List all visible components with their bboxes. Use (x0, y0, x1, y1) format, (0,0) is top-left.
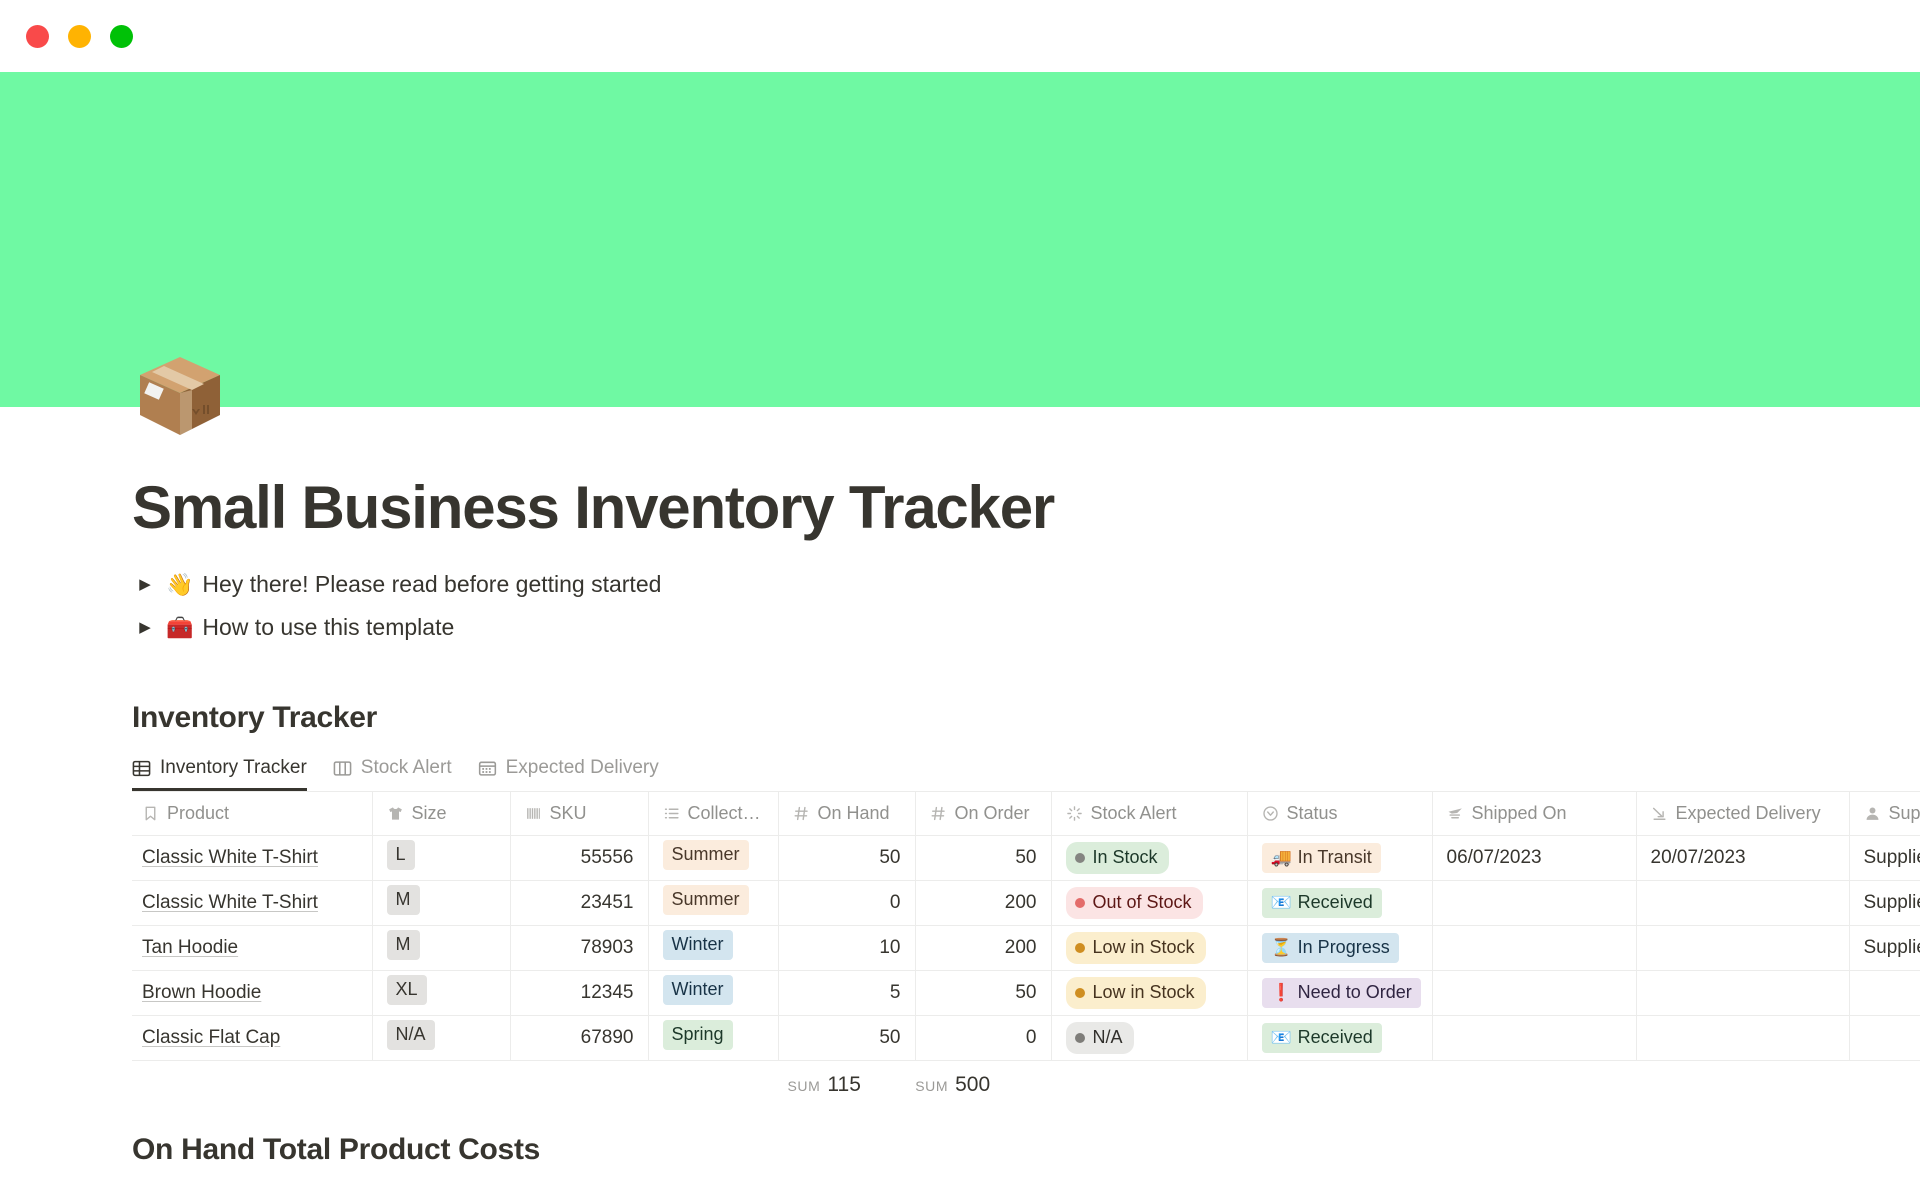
product-link[interactable]: Classic Flat Cap (142, 1027, 280, 1048)
stock-alert-tag: Low in Stock (1066, 932, 1206, 963)
status-dot-icon (1075, 1033, 1085, 1043)
column-header-supplier[interactable]: Supplier (1849, 792, 1920, 836)
column-header-on-hand[interactable]: On Hand (778, 792, 915, 836)
toggle-block-how-to-use[interactable]: ▶ 🧰 How to use this template (132, 606, 1920, 649)
status-tag: 📧Received (1262, 888, 1382, 917)
stock-alert-tag: Low in Stock (1066, 977, 1206, 1008)
status-tag: 🚚In Transit (1262, 843, 1381, 872)
board-icon (333, 759, 352, 778)
zoom-window-button[interactable] (110, 25, 133, 48)
size-tag: M (387, 885, 420, 914)
list-icon (663, 805, 680, 822)
cell-size[interactable]: L (372, 836, 510, 881)
traffic-lights (26, 25, 133, 48)
cell-sku[interactable]: 23451 (510, 881, 648, 926)
cell-product[interactable]: Brown Hoodie (132, 971, 372, 1016)
cell-collection[interactable]: Summer (648, 881, 778, 926)
package-box-icon[interactable] (132, 345, 228, 441)
cell-collection[interactable]: Winter (648, 926, 778, 971)
tab-inventory-tracker[interactable]: Inventory Tracker (132, 757, 307, 791)
product-link[interactable]: Classic White T-Shirt (142, 847, 318, 868)
arrow-down-icon (1651, 805, 1668, 822)
collection-tag: Winter (663, 930, 733, 959)
column-header-status[interactable]: Status (1247, 792, 1432, 836)
database-view-tabs: Inventory Tracker Stock Alert Expected D… (132, 753, 1920, 791)
page-content: Small Business Inventory Tracker ▶ 👋 Hey… (0, 407, 1920, 1167)
product-link[interactable]: Tan Hoodie (142, 937, 238, 958)
status-tag: ❗Need to Order (1262, 978, 1421, 1007)
column-label: Size (412, 803, 447, 824)
status-label: In Transit (1298, 846, 1372, 869)
table-row[interactable]: Classic White T-Shirt M 23451 Summer 0 2… (132, 881, 1920, 926)
sum-label: Sum (787, 1078, 820, 1094)
cell-supplier[interactable]: Supplier (1849, 881, 1920, 926)
sum-value: 115 (827, 1073, 860, 1096)
inventory-database-block: Inventory Tracker Inventory Tracker Stoc… (132, 701, 1920, 1167)
column-header-on-order[interactable]: On Order (915, 792, 1051, 836)
cell-stock-alert[interactable]: N/A (1051, 1016, 1247, 1061)
number-icon (930, 805, 947, 822)
window-title-bar (0, 0, 1920, 72)
page-title[interactable]: Small Business Inventory Tracker (132, 407, 1920, 541)
column-header-sku[interactable]: SKU (510, 792, 648, 836)
cell-shipped-on[interactable] (1432, 1016, 1636, 1061)
stock-alert-tag: N/A (1066, 1022, 1134, 1053)
cell-on-order[interactable]: 0 (915, 1016, 1051, 1061)
inbox-tray-icon: 📧 (1271, 894, 1292, 911)
table-row[interactable]: Tan Hoodie M 78903 Winter 10 200 Low in … (132, 926, 1920, 971)
cell-status[interactable]: ❗Need to Order (1247, 971, 1432, 1016)
column-label: On Order (955, 803, 1030, 824)
cell-collection[interactable]: Summer (648, 836, 778, 881)
collection-tag: Summer (663, 885, 749, 914)
calendar-icon (478, 759, 497, 778)
cell-product[interactable]: Classic White T-Shirt (132, 881, 372, 926)
column-label: Status (1287, 803, 1338, 824)
cell-stock-alert[interactable]: Low in Stock (1051, 926, 1247, 971)
toggle-label: Hey there! Please read before getting st… (202, 571, 661, 598)
chevron-right-icon[interactable]: ▶ (132, 620, 158, 635)
number-icon (793, 805, 810, 822)
cell-status[interactable]: 🚚In Transit (1247, 836, 1432, 881)
column-label: On Hand (818, 803, 890, 824)
tab-stock-alert[interactable]: Stock Alert (333, 757, 452, 791)
cell-size[interactable]: M (372, 926, 510, 971)
cell-size[interactable]: N/A (372, 1016, 510, 1061)
tab-expected-delivery[interactable]: Expected Delivery (478, 757, 659, 791)
inventory-table-scroll-area[interactable]: Product Size SKU Collecti… On Hand On Or… (132, 791, 1920, 1109)
cell-shipped-on[interactable] (1432, 971, 1636, 1016)
column-label: Stock Alert (1091, 803, 1177, 824)
table-row[interactable]: Brown Hoodie XL 12345 Winter 5 50 Low in… (132, 971, 1920, 1016)
cell-on-order[interactable]: 200 (915, 881, 1051, 926)
exclamation-mark-icon: ❗ (1271, 984, 1292, 1001)
table-body: Classic White T-Shirt L 55556 Summer 50 … (132, 836, 1920, 1061)
table-aggregation-row: Sum115 Sum500 (132, 1061, 1920, 1109)
table-header-row: Product Size SKU Collecti… On Hand On Or… (132, 792, 1920, 836)
stock-alert-label: Low in Stock (1093, 935, 1195, 960)
status-label: Need to Order (1298, 981, 1412, 1004)
status-label: In Progress (1298, 936, 1390, 959)
toggle-label: How to use this template (202, 614, 454, 641)
cell-collection[interactable]: Winter (648, 971, 778, 1016)
cell-product[interactable]: Classic Flat Cap (132, 1016, 372, 1061)
product-link[interactable]: Classic White T-Shirt (142, 892, 318, 913)
chevron-right-icon[interactable]: ▶ (132, 577, 158, 592)
status-dot-icon (1075, 988, 1085, 998)
status-label: Received (1298, 1026, 1373, 1049)
collection-tag: Winter (663, 975, 733, 1004)
collection-tag: Spring (663, 1020, 733, 1049)
tshirt-icon (387, 805, 404, 822)
barcode-icon (525, 805, 542, 822)
column-label: SKU (550, 803, 587, 824)
cell-sku[interactable]: 78903 (510, 926, 648, 971)
column-header-expected-delivery[interactable]: Expected Delivery (1636, 792, 1849, 836)
cell-on-hand[interactable]: 10 (778, 926, 915, 971)
status-label: Received (1298, 891, 1373, 914)
status-tag: ⏳In Progress (1262, 933, 1399, 962)
status-dot-icon (1075, 943, 1085, 953)
inbox-tray-icon: 📧 (1271, 1029, 1292, 1046)
page-cover-banner[interactable] (0, 72, 1920, 407)
truck-icon: 🚚 (1271, 849, 1292, 866)
select-icon (1262, 805, 1279, 822)
sum-label: Sum (915, 1078, 948, 1094)
column-header-product[interactable]: Product (132, 792, 372, 836)
column-header-collection[interactable]: Collecti… (648, 792, 778, 836)
column-label: Supplier (1889, 803, 1920, 824)
cell-expected-delivery[interactable] (1636, 971, 1849, 1016)
column-label: Expected Delivery (1676, 803, 1821, 824)
sum-on-hand[interactable]: Sum115 (745, 1073, 875, 1097)
status-dot-icon (1075, 853, 1085, 863)
hourglass-icon: ⏳ (1271, 939, 1292, 956)
minimize-window-button[interactable] (68, 25, 91, 48)
cell-on-hand[interactable]: 50 (778, 1016, 915, 1061)
cell-status[interactable]: ⏳In Progress (1247, 926, 1432, 971)
cell-on-hand[interactable]: 5 (778, 971, 915, 1016)
column-label: Collecti… (688, 803, 764, 824)
plane-icon (1447, 805, 1464, 822)
database-title[interactable]: Inventory Tracker (132, 701, 1920, 735)
stock-alert-label: Low in Stock (1093, 980, 1195, 1005)
cell-sku[interactable]: 67890 (510, 1016, 648, 1061)
bookmark-icon (142, 805, 159, 822)
cell-supplier[interactable]: Supplier (1849, 926, 1920, 971)
cell-shipped-on[interactable]: 06/07/2023 (1432, 836, 1636, 881)
next-section-heading[interactable]: On Hand Total Product Costs (132, 1133, 1920, 1167)
cell-sku[interactable]: 12345 (510, 971, 648, 1016)
cell-size[interactable]: XL (372, 971, 510, 1016)
cell-on-order[interactable]: 50 (915, 836, 1051, 881)
stock-alert-label: N/A (1093, 1025, 1123, 1050)
product-link[interactable]: Brown Hoodie (142, 982, 261, 1003)
tab-label: Inventory Tracker (160, 757, 307, 779)
sum-value: 500 (955, 1073, 990, 1096)
cell-stock-alert[interactable]: Low in Stock (1051, 971, 1247, 1016)
cell-stock-alert[interactable]: In Stock (1051, 836, 1247, 881)
toggle-block-list: ▶ 👋 Hey there! Please read before gettin… (132, 563, 1920, 649)
cell-supplier[interactable] (1849, 1016, 1920, 1061)
tab-label: Stock Alert (361, 757, 452, 779)
column-label: Shipped On (1472, 803, 1567, 824)
column-header-shipped-on[interactable]: Shipped On (1432, 792, 1636, 836)
column-label: Product (167, 803, 229, 824)
cell-size[interactable]: M (372, 881, 510, 926)
stock-alert-tag: In Stock (1066, 842, 1169, 873)
cell-product[interactable]: Classic White T-Shirt (132, 836, 372, 881)
cell-on-hand[interactable]: 50 (778, 836, 915, 881)
collection-tag: Summer (663, 840, 749, 869)
table-icon (132, 759, 151, 778)
size-tag: M (387, 930, 420, 959)
cell-on-order[interactable]: 50 (915, 971, 1051, 1016)
cell-expected-delivery[interactable] (1636, 1016, 1849, 1061)
tab-label: Expected Delivery (506, 757, 659, 779)
cell-collection[interactable]: Spring (648, 1016, 778, 1061)
cell-shipped-on[interactable] (1432, 881, 1636, 926)
table-row[interactable]: Classic Flat Cap N/A 67890 Spring 50 0 N… (132, 1016, 1920, 1061)
column-header-stock-alert[interactable]: Stock Alert (1051, 792, 1247, 836)
size-tag: XL (387, 975, 427, 1004)
cell-supplier[interactable]: Supplier (1849, 836, 1920, 881)
cell-on-order[interactable]: 200 (915, 926, 1051, 971)
waving-hand-icon: 👋 (166, 574, 193, 596)
toggle-block-welcome[interactable]: ▶ 👋 Hey there! Please read before gettin… (132, 563, 1920, 606)
cell-shipped-on[interactable] (1432, 926, 1636, 971)
status-tag: 📧Received (1262, 1023, 1382, 1052)
stock-alert-tag: Out of Stock (1066, 887, 1203, 918)
sum-on-order[interactable]: Sum500 (875, 1073, 1004, 1097)
stock-alert-label: Out of Stock (1093, 890, 1192, 915)
cell-product[interactable]: Tan Hoodie (132, 926, 372, 971)
formula-icon (1066, 805, 1083, 822)
cell-status[interactable]: 📧Received (1247, 1016, 1432, 1061)
inventory-table: Product Size SKU Collecti… On Hand On Or… (132, 791, 1920, 1061)
cell-status[interactable]: 📧Received (1247, 881, 1432, 926)
cell-expected-delivery[interactable]: 20/07/2023 (1636, 836, 1849, 881)
cell-on-hand[interactable]: 0 (778, 881, 915, 926)
size-tag: N/A (387, 1020, 435, 1049)
toolbox-icon: 🧰 (166, 617, 193, 639)
cell-expected-delivery[interactable] (1636, 926, 1849, 971)
size-tag: L (387, 840, 415, 869)
close-window-button[interactable] (26, 25, 49, 48)
status-dot-icon (1075, 898, 1085, 908)
cell-supplier[interactable] (1849, 971, 1920, 1016)
cell-expected-delivery[interactable] (1636, 881, 1849, 926)
table-row[interactable]: Classic White T-Shirt L 55556 Summer 50 … (132, 836, 1920, 881)
person-icon (1864, 805, 1881, 822)
cell-sku[interactable]: 55556 (510, 836, 648, 881)
stock-alert-label: In Stock (1093, 845, 1158, 870)
column-header-size[interactable]: Size (372, 792, 510, 836)
cell-stock-alert[interactable]: Out of Stock (1051, 881, 1247, 926)
